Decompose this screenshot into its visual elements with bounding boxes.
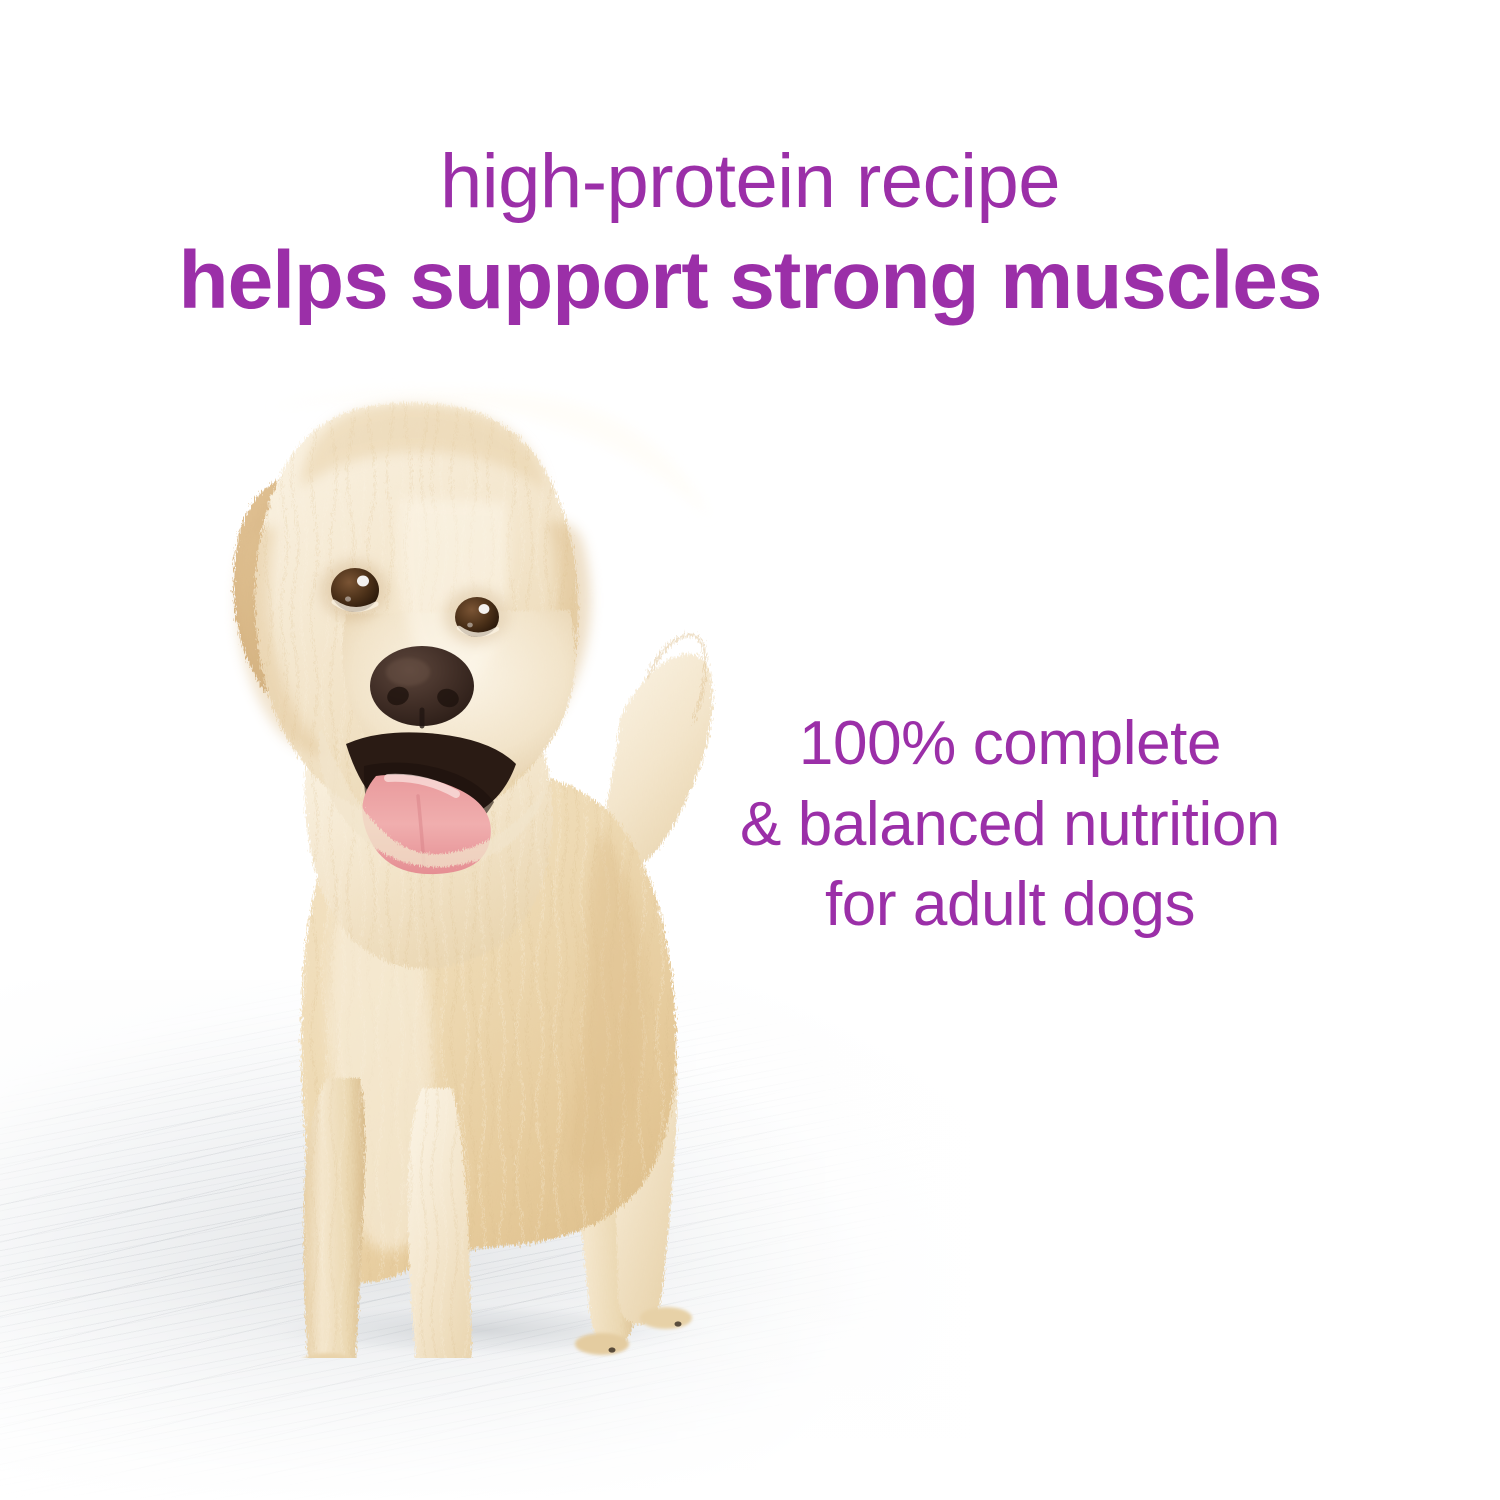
nutrition-claim-block: 100% complete & balanced nutrition for a… <box>690 704 1330 946</box>
dog-nose <box>370 646 474 726</box>
headline-block: high-protein recipe helps support strong… <box>0 144 1500 322</box>
product-feature-banner: high-protein recipe helps support strong… <box>0 0 1500 1500</box>
headline-line-2: helps support strong muscles <box>0 240 1500 322</box>
claim-line-3: for adult dogs <box>690 865 1330 946</box>
claim-line-2: & balanced nutrition <box>690 785 1330 866</box>
dog-head <box>234 403 591 874</box>
headline-line-1: high-protein recipe <box>0 144 1500 220</box>
claim-line-1: 100% complete <box>690 704 1330 785</box>
